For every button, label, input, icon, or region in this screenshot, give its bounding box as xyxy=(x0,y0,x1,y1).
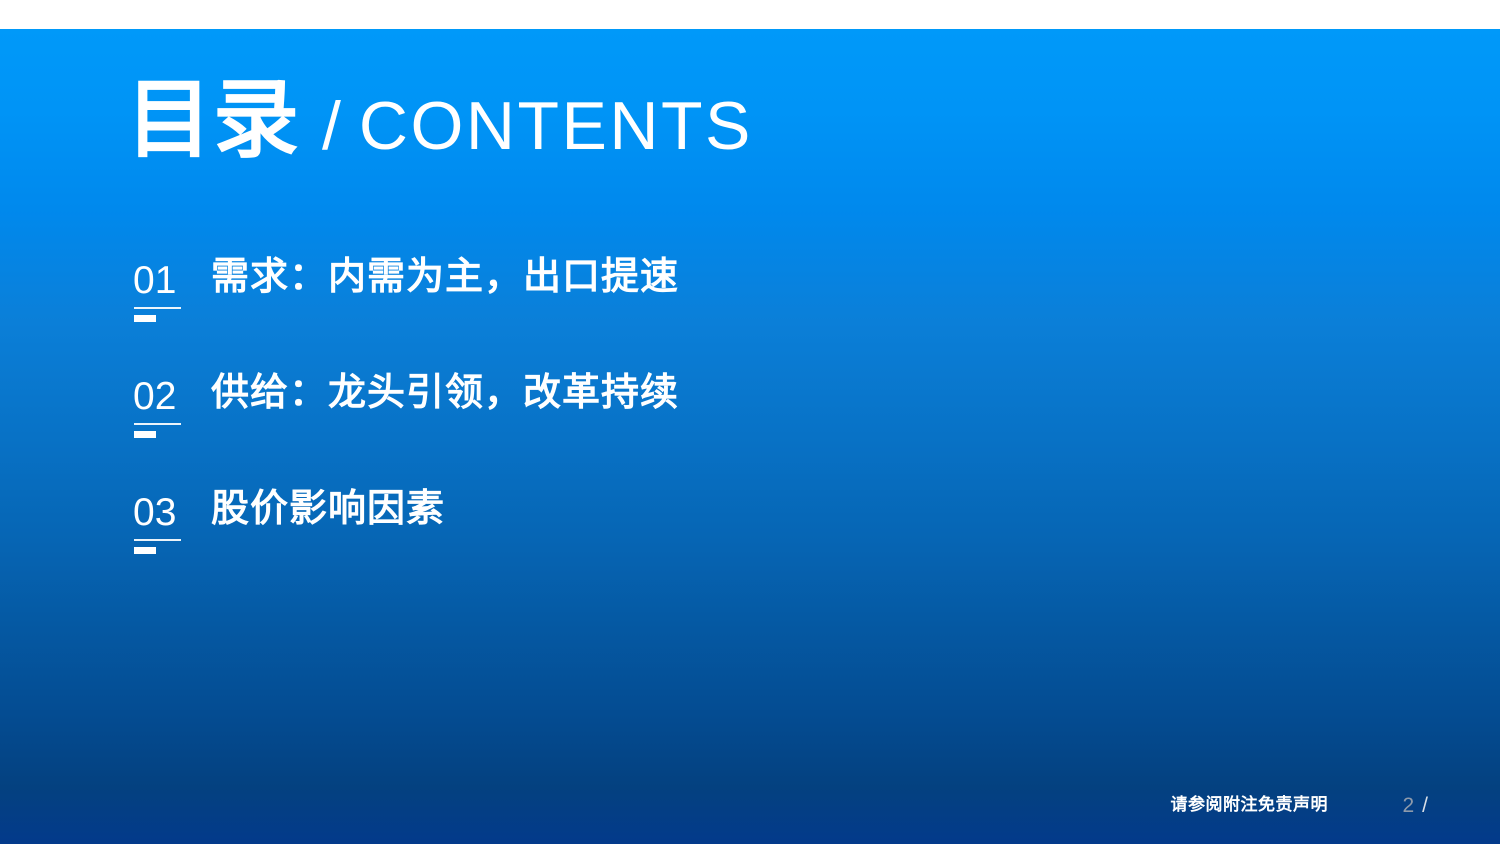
top-white-margin xyxy=(0,0,1500,29)
footer-disclaimer: 请参阅附注免责声明 xyxy=(1171,790,1329,815)
number-underline-tick-03 xyxy=(134,547,156,554)
contents-item-03[interactable]: 03 股价影响因素 xyxy=(133,473,1033,589)
contents-item-03-label: 股价影响因素 xyxy=(199,473,445,527)
contents-item-03-number-wrap: 03 xyxy=(133,473,199,532)
contents-item-01-number-wrap: 01 xyxy=(133,241,199,300)
contents-item-02-label: 供给：龙头引领，改革持续 xyxy=(199,357,679,411)
contents-item-02-number: 02 xyxy=(133,377,176,416)
slide-root: 目录 / CONTENTS 01 需求：内需为主，出口提速 02 xyxy=(0,0,1500,844)
number-underline-tick-02 xyxy=(134,431,156,438)
contents-item-03-number: 03 xyxy=(133,493,176,532)
number-underline-rule-01 xyxy=(134,307,181,309)
contents-item-01-label: 需求：内需为主，出口提速 xyxy=(199,241,679,295)
page-title-cn: 目录 xyxy=(126,77,300,163)
slide-canvas: 目录 / CONTENTS 01 需求：内需为主，出口提速 02 xyxy=(0,29,1500,844)
page-number-separator: / xyxy=(1422,794,1428,818)
title-separator: / xyxy=(322,92,341,160)
contents-item-02-number-wrap: 02 xyxy=(133,357,199,416)
contents-item-01-number: 01 xyxy=(133,261,176,300)
number-underline-rule-02 xyxy=(134,423,181,425)
footer-page-number: 2 / xyxy=(1402,794,1428,818)
page-number-current: 2 xyxy=(1402,794,1414,818)
number-underline-rule-03 xyxy=(134,539,181,541)
page-title: 目录 / CONTENTS xyxy=(126,77,753,163)
number-underline-tick-01 xyxy=(134,315,156,322)
contents-item-01[interactable]: 01 需求：内需为主，出口提速 xyxy=(133,241,1033,357)
contents-list: 01 需求：内需为主，出口提速 02 供给：龙头引领，改革持续 03 xyxy=(133,241,1033,589)
page-title-en: CONTENTS xyxy=(359,92,753,160)
contents-item-02[interactable]: 02 供给：龙头引领，改革持续 xyxy=(133,357,1033,473)
